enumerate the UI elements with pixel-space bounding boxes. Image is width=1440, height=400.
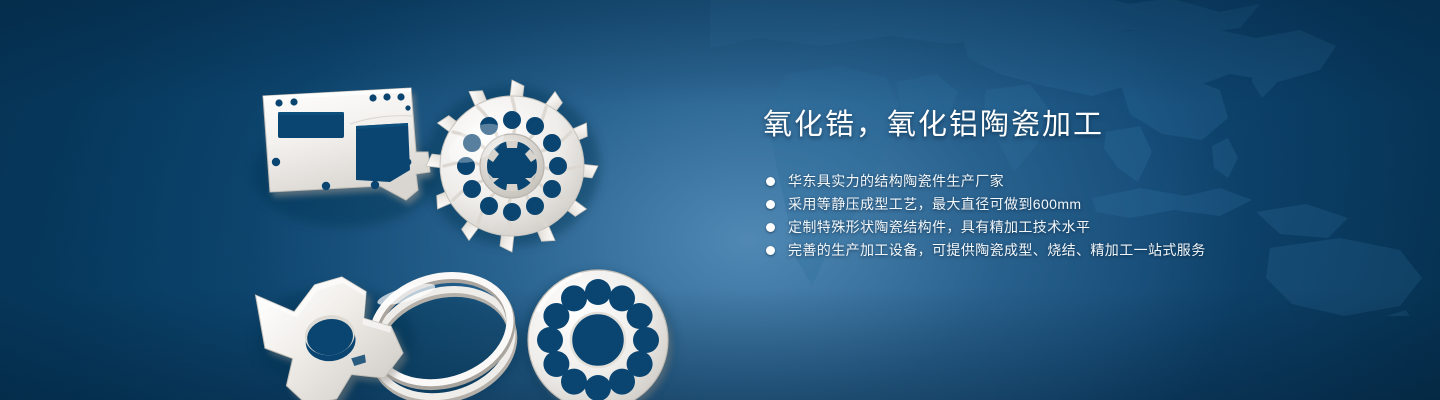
bullet-dot-icon [766,200,775,209]
hero-banner: 氧化锆，氧化铝陶瓷加工 华东具实力的结构陶瓷件生产厂家 采用等静压成型工艺，最大… [0,0,1440,400]
banner-copy: 氧化锆，氧化铝陶瓷加工 华东具实力的结构陶瓷件生产厂家 采用等静压成型工艺，最大… [763,108,1323,262]
product-ceramic-cross-plate [255,269,413,400]
list-item: 定制特殊形状陶瓷结构件，具有精加工技术水平 [763,216,1323,239]
list-item-label: 定制特殊形状陶瓷结构件，具有精加工技术水平 [788,219,1090,235]
page-title: 氧化锆，氧化铝陶瓷加工 [763,108,1323,142]
bullet-dot-icon [766,177,775,186]
list-item-label: 采用等静压成型工艺，最大直径可做到600mm [788,196,1081,212]
list-item: 采用等静压成型工艺，最大直径可做到600mm [763,193,1323,216]
list-item: 华东具实力的结构陶瓷件生产厂家 [763,170,1323,193]
list-item-label: 完善的生产加工设备，可提供陶瓷成型、烧结、精加工一站式服务 [788,242,1206,258]
bullet-dot-icon [766,223,775,232]
list-item: 完善的生产加工设备，可提供陶瓷成型、烧结、精加工一站式服务 [763,239,1323,262]
product-ceramic-impeller [426,80,598,252]
bullet-dot-icon [766,246,775,255]
list-item-label: 华东具实力的结构陶瓷件生产厂家 [788,173,1004,189]
product-group [230,40,700,385]
product-ceramic-plate [263,88,433,205]
feature-list: 华东具实力的结构陶瓷件生产厂家 采用等静压成型工艺，最大直径可做到600mm 定… [763,170,1323,262]
product-ceramic-perforated-disc [528,270,672,400]
